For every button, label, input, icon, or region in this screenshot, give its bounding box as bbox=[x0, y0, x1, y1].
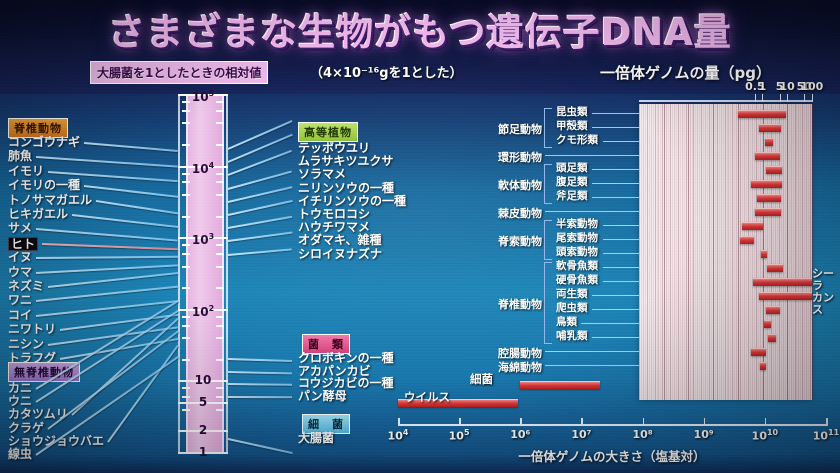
organism-label: 大腸菌 bbox=[298, 432, 334, 444]
organism-label: カニ bbox=[8, 382, 32, 394]
leader-line bbox=[84, 142, 178, 152]
gridline bbox=[783, 104, 784, 400]
gridline bbox=[676, 104, 677, 400]
leader-line bbox=[228, 216, 292, 229]
row-leader-line bbox=[603, 239, 639, 241]
axis-tick-label: 1 bbox=[186, 446, 220, 458]
leader-line bbox=[48, 272, 178, 288]
row-leader-line bbox=[603, 267, 639, 269]
range-bar bbox=[759, 124, 781, 132]
gridline bbox=[793, 104, 794, 400]
gridline-decade bbox=[787, 104, 788, 400]
leader-line bbox=[228, 200, 292, 216]
bottom-axis-tick bbox=[704, 418, 706, 426]
vertical-axis-guide-left bbox=[178, 95, 180, 453]
phylum-brace bbox=[544, 220, 552, 260]
axis-tick-minor bbox=[182, 266, 190, 268]
gridline bbox=[682, 104, 683, 400]
range-bar bbox=[766, 166, 782, 174]
axis-tick-minor bbox=[182, 396, 190, 398]
gridline bbox=[707, 104, 708, 400]
row-label: 腹足類 bbox=[556, 177, 588, 188]
row-label: 半索動物 bbox=[556, 219, 598, 230]
axis-tick-minor bbox=[182, 244, 190, 246]
axis-tick-label: 103 bbox=[186, 231, 220, 246]
organism-label: ヒキガエル bbox=[8, 208, 68, 220]
gridline bbox=[727, 104, 728, 400]
gridline bbox=[748, 104, 749, 400]
organism-label: サメ bbox=[8, 222, 32, 234]
bottom-axis-tick-label: 10⁷ bbox=[571, 428, 591, 441]
gridline bbox=[771, 104, 772, 400]
gridline bbox=[639, 104, 640, 400]
bottom-axis-line bbox=[398, 424, 826, 426]
range-bar bbox=[751, 348, 766, 356]
top-axis-tick bbox=[812, 94, 813, 102]
range-bar bbox=[765, 138, 773, 146]
bottom-axis-tick bbox=[398, 418, 400, 426]
gridline bbox=[684, 104, 685, 400]
bottom-axis-tick-label: 105 bbox=[449, 428, 470, 443]
range-bar bbox=[751, 180, 782, 188]
range-bar bbox=[755, 208, 781, 216]
gridline bbox=[795, 104, 796, 400]
gridline-decade bbox=[713, 104, 714, 400]
bottom-axis-tick bbox=[581, 418, 583, 426]
gridline bbox=[717, 104, 718, 400]
gridline bbox=[651, 104, 652, 400]
organism-label: ニリンソウの一種 bbox=[298, 182, 394, 194]
organism-label: イモリ bbox=[8, 165, 44, 177]
gridline bbox=[686, 104, 687, 400]
relative-value-tag: 大腸菌を1としたときの相対値 bbox=[90, 61, 268, 84]
top-axis-tick-label: 10 bbox=[779, 80, 794, 93]
relative-value-note: （4×10⁻¹⁶gを1とした） bbox=[310, 62, 463, 81]
axis-tick-label: 102 bbox=[186, 303, 220, 318]
gridline-decade bbox=[664, 104, 665, 400]
range-bar bbox=[520, 381, 600, 389]
range-bar bbox=[760, 362, 766, 370]
gridline bbox=[798, 104, 799, 400]
gridline bbox=[670, 104, 671, 400]
gridline bbox=[709, 104, 710, 400]
row-leader-line bbox=[603, 225, 639, 227]
gridline bbox=[796, 104, 797, 400]
bottom-axis-tick-label: 104 bbox=[388, 428, 409, 443]
row-label: 鳥類 bbox=[556, 317, 577, 328]
axis-tick-minor bbox=[216, 101, 224, 103]
gridline bbox=[692, 104, 693, 400]
gridline bbox=[806, 104, 807, 400]
row-label: 昆虫類 bbox=[556, 107, 588, 118]
organism-label: シロイヌナズナ bbox=[298, 248, 382, 260]
gridline bbox=[734, 104, 735, 400]
gridline bbox=[674, 104, 675, 400]
phylum-label: 環形動物 bbox=[498, 149, 542, 165]
gridline bbox=[785, 104, 786, 400]
bottom-axis-tick-label: 10⁸ bbox=[633, 428, 653, 441]
bottom-axis-tick-label: 10⁹ bbox=[694, 428, 714, 441]
organism-label: ニワトリ bbox=[8, 323, 56, 335]
phylum-label: 節足動物 bbox=[498, 121, 542, 137]
range-bar bbox=[764, 320, 771, 328]
axis-tick-minor bbox=[182, 253, 190, 255]
leader-line bbox=[84, 185, 178, 198]
axis-tick-minor bbox=[182, 337, 190, 339]
range-bar bbox=[759, 292, 812, 300]
gridline bbox=[773, 104, 774, 400]
organism-label: トウモロコシ bbox=[298, 208, 370, 220]
organism-label: テッポウユリ bbox=[298, 142, 370, 154]
organism-label: ニシン bbox=[8, 338, 44, 350]
axis-tick-minor bbox=[216, 144, 224, 146]
row-label: 斧足類 bbox=[556, 191, 588, 202]
row-label: 爬虫類 bbox=[556, 303, 588, 314]
gridline bbox=[701, 104, 702, 400]
row-leader-line bbox=[592, 337, 639, 339]
axis-tick-label: 104 bbox=[186, 160, 220, 175]
phylum-label: 棘皮動物 bbox=[498, 205, 542, 221]
leader-line bbox=[228, 232, 292, 242]
gridline bbox=[711, 104, 712, 400]
gridline bbox=[777, 104, 778, 400]
row-leader-line bbox=[592, 309, 639, 311]
axis-tick-minor bbox=[216, 110, 224, 112]
gridline bbox=[658, 104, 659, 400]
axis-tick-minor bbox=[216, 337, 224, 339]
gridline bbox=[775, 104, 776, 400]
leader-line bbox=[228, 186, 292, 203]
phylum-label: 脊索動物 bbox=[498, 233, 542, 249]
axis-tick-minor bbox=[216, 216, 224, 218]
axis-tick-minor bbox=[216, 430, 224, 432]
leader-line bbox=[42, 243, 178, 250]
gridline bbox=[802, 104, 803, 400]
axis-tick-minor bbox=[216, 287, 224, 289]
row-leader-line bbox=[592, 183, 639, 185]
axis-tick-minor bbox=[182, 325, 190, 327]
leader-line bbox=[107, 344, 179, 442]
bottom-axis-tick bbox=[459, 418, 461, 426]
gridline bbox=[810, 104, 811, 400]
leader-line bbox=[228, 170, 293, 190]
gridline bbox=[789, 104, 790, 400]
gridline bbox=[767, 104, 768, 400]
range-bar bbox=[742, 222, 763, 230]
gridline bbox=[699, 104, 700, 400]
organism-label: クラゲ bbox=[8, 422, 44, 434]
gridline bbox=[666, 104, 667, 400]
gridline bbox=[769, 104, 770, 400]
top-axis-tick bbox=[755, 94, 756, 102]
row-label: 硬骨魚類 bbox=[556, 275, 598, 286]
axis-tick-minor bbox=[182, 122, 190, 124]
range-bar bbox=[768, 334, 776, 342]
leader-line bbox=[96, 200, 178, 214]
axis-tick-minor bbox=[216, 173, 224, 175]
organism-label: ソラマメ bbox=[298, 168, 346, 180]
row-leader-line bbox=[603, 281, 639, 283]
gridline-decade bbox=[688, 104, 689, 400]
axis-tick-minor bbox=[182, 387, 190, 389]
gridline bbox=[705, 104, 706, 400]
row-label: 甲殻類 bbox=[556, 121, 588, 132]
gridline bbox=[641, 104, 642, 400]
gridline bbox=[643, 104, 644, 400]
bottom-axis-tick bbox=[520, 418, 522, 426]
range-bar bbox=[757, 194, 781, 202]
organism-label: オダマキ、雑種 bbox=[298, 234, 382, 246]
axis-tick-minor bbox=[182, 110, 190, 112]
range-bar bbox=[740, 236, 754, 244]
gridline bbox=[808, 104, 809, 400]
gridline bbox=[645, 104, 646, 400]
range-bar bbox=[755, 152, 780, 160]
axis-tick-label: 5 bbox=[186, 396, 220, 408]
bottom-axis-tick-label: 1011 bbox=[813, 428, 839, 443]
organism-label: ワニ bbox=[8, 294, 32, 306]
row-leader-line bbox=[592, 295, 639, 297]
axis-tick-minor bbox=[216, 181, 224, 183]
gridline bbox=[668, 104, 669, 400]
organism-label: コウジカビの一種 bbox=[298, 377, 394, 389]
tv-graphic-screen: さまざまな生物がもつ遺伝子DNA量 大腸菌を1としたときの相対値 （4×10⁻¹… bbox=[0, 0, 840, 473]
axis-tick-minor bbox=[216, 244, 224, 246]
organism-label: アカパンカビ bbox=[298, 365, 371, 377]
organism-label: 肺魚 bbox=[8, 150, 32, 162]
gridline bbox=[715, 104, 716, 400]
gridline bbox=[693, 104, 694, 400]
gridline bbox=[680, 104, 681, 400]
leader-line bbox=[228, 358, 292, 362]
phylum-brace bbox=[544, 164, 552, 204]
bottom-axis-title: 一倍体ゲノムの大きさ（塩基対） bbox=[398, 446, 826, 465]
range-bar bbox=[767, 264, 784, 272]
row-label: クモ形類 bbox=[556, 135, 598, 146]
leader-line bbox=[228, 396, 292, 398]
row-leader-line bbox=[581, 323, 639, 325]
axis-tick-minor bbox=[216, 387, 224, 389]
gridline bbox=[719, 104, 720, 400]
row-label: 頭索動物 bbox=[556, 247, 598, 258]
gridline bbox=[725, 104, 726, 400]
leader-line bbox=[228, 248, 292, 256]
row-label: 両生類 bbox=[556, 289, 588, 300]
axis-tick-minor bbox=[216, 409, 224, 411]
group-tag-plant: 高等植物 bbox=[298, 122, 358, 142]
row-label: 尾索動物 bbox=[556, 233, 598, 244]
gridline bbox=[655, 104, 656, 400]
row-leader-line bbox=[592, 127, 639, 129]
organism-label: ムラサキツユクサ bbox=[298, 155, 393, 167]
axis-tick-minor bbox=[216, 253, 224, 255]
axis-tick-minor bbox=[182, 181, 190, 183]
axis-tick-minor bbox=[182, 430, 190, 432]
organism-label: イヌ bbox=[8, 251, 32, 263]
range-bar bbox=[753, 278, 813, 286]
row-leader-line bbox=[545, 351, 639, 353]
top-axis-tick bbox=[804, 94, 805, 102]
gridline bbox=[742, 104, 743, 400]
annotation-label-bacteria: 細菌 bbox=[470, 371, 493, 387]
gridline bbox=[791, 104, 792, 400]
range-bar bbox=[738, 110, 786, 118]
leader-line bbox=[228, 120, 293, 150]
gridline bbox=[779, 104, 780, 400]
top-axis-tick-label: 100 bbox=[800, 80, 823, 93]
organism-label: パン酵母 bbox=[298, 390, 347, 402]
range-bar bbox=[766, 306, 780, 314]
row-leader-line bbox=[545, 211, 639, 213]
gridline bbox=[703, 104, 704, 400]
row-leader-line bbox=[592, 197, 639, 199]
axis-tick-minor bbox=[182, 316, 190, 318]
annotation-label-virus: ウイルス bbox=[404, 389, 450, 405]
axis-tick-minor bbox=[216, 396, 224, 398]
leader-line bbox=[36, 228, 178, 242]
gridline bbox=[697, 104, 698, 400]
gridline-decade bbox=[738, 104, 739, 400]
organism-label: クロボキンの一種 bbox=[298, 352, 394, 364]
axis-tick-minor bbox=[182, 144, 190, 146]
gridline bbox=[804, 104, 805, 400]
axis-tick-minor bbox=[216, 316, 224, 318]
axis-tick-label: 2 bbox=[186, 424, 220, 436]
axis-tick-minor bbox=[216, 325, 224, 327]
phylum-label: 軟体動物 bbox=[498, 177, 542, 193]
axis-tick-minor bbox=[182, 359, 190, 361]
row-leader-line bbox=[592, 113, 639, 115]
top-axis-tick-label: 1 bbox=[759, 80, 767, 93]
organism-label: 線虫 bbox=[8, 448, 32, 460]
gridline bbox=[649, 104, 650, 400]
axis-tick-minor bbox=[216, 266, 224, 268]
gridline bbox=[690, 104, 691, 400]
row-leader-line bbox=[545, 365, 639, 367]
gridline bbox=[660, 104, 661, 400]
gridline bbox=[730, 104, 731, 400]
top-axis-tick bbox=[780, 94, 781, 102]
gridline bbox=[647, 104, 648, 400]
row-leader-line bbox=[603, 141, 639, 143]
gridline bbox=[800, 104, 801, 400]
organism-label: ネズミ bbox=[8, 280, 44, 292]
leader-line bbox=[72, 214, 178, 228]
top-axis-tick bbox=[762, 94, 763, 102]
row-label: 頭足類 bbox=[556, 163, 588, 174]
gridline bbox=[744, 104, 745, 400]
gridline bbox=[678, 104, 679, 400]
gridline bbox=[653, 104, 654, 400]
axis-tick-minor bbox=[182, 101, 190, 103]
range-bar bbox=[761, 250, 767, 258]
organism-label: ウマ bbox=[8, 266, 32, 278]
gridline bbox=[721, 104, 722, 400]
page-title: さまざまな生物がもつ遺伝子DNA量 bbox=[0, 2, 840, 56]
phylum-label: 脊椎動物 bbox=[498, 296, 542, 312]
coelacanth-annotation: シーラカンス bbox=[812, 268, 840, 316]
axis-tick-minor bbox=[216, 122, 224, 124]
axis-tick-minor bbox=[216, 194, 224, 196]
bottom-axis-tick bbox=[643, 418, 645, 426]
organism-label: イチリンソウの一種 bbox=[298, 195, 406, 207]
leader-line bbox=[228, 383, 292, 386]
bottom-axis-tick bbox=[765, 418, 767, 426]
phylum-label: 海綿動物 bbox=[498, 359, 542, 375]
leader-line bbox=[36, 286, 178, 302]
organism-label: コンゴウナギ bbox=[8, 136, 80, 148]
row-leader-line bbox=[592, 169, 639, 171]
row-leader-line bbox=[603, 253, 639, 255]
gridline bbox=[740, 104, 741, 400]
top-axis-tick bbox=[787, 94, 788, 102]
leader-line bbox=[228, 371, 292, 374]
leader-line bbox=[36, 156, 178, 168]
leader-line bbox=[228, 134, 293, 163]
axis-tick-minor bbox=[216, 359, 224, 361]
row-label: 軟骨魚類 bbox=[556, 261, 598, 272]
organism-label: イモリの一種 bbox=[8, 179, 80, 191]
organism-label: ハウチワマメ bbox=[298, 221, 370, 233]
bottom-axis-tick-label: 1010 bbox=[752, 428, 778, 443]
axis-tick-minor bbox=[182, 194, 190, 196]
phylum-brace bbox=[544, 108, 552, 148]
leader-line bbox=[36, 256, 178, 259]
organism-label: ヒト bbox=[8, 237, 38, 251]
axis-tick-minor bbox=[182, 173, 190, 175]
gridline bbox=[746, 104, 747, 400]
top-axis-line bbox=[639, 100, 812, 102]
gridline bbox=[657, 104, 658, 400]
gridline bbox=[728, 104, 729, 400]
gridline bbox=[723, 104, 724, 400]
row-label: 哺乳類 bbox=[556, 331, 588, 342]
gridline bbox=[732, 104, 733, 400]
axis-tick-minor bbox=[182, 287, 190, 289]
gridline-decade bbox=[812, 104, 813, 400]
leader-line bbox=[36, 264, 178, 274]
axis-tick-label: 105 bbox=[186, 88, 220, 103]
gridline bbox=[781, 104, 782, 400]
organism-label: ウニ bbox=[8, 395, 32, 407]
axis-tick-label: 10 bbox=[186, 374, 220, 386]
bottom-axis-tick-label: 10⁶ bbox=[510, 428, 530, 441]
organism-label: コイ bbox=[8, 309, 32, 321]
axis-tick-minor bbox=[182, 216, 190, 218]
leader-line bbox=[228, 438, 292, 454]
gridline bbox=[695, 104, 696, 400]
gridline bbox=[672, 104, 673, 400]
row-leader-line bbox=[545, 155, 639, 157]
phylum-brace bbox=[544, 262, 552, 344]
bottom-axis-tick bbox=[826, 418, 828, 426]
axis-tick-minor bbox=[182, 409, 190, 411]
organism-label: トノサマガエル bbox=[8, 194, 92, 206]
